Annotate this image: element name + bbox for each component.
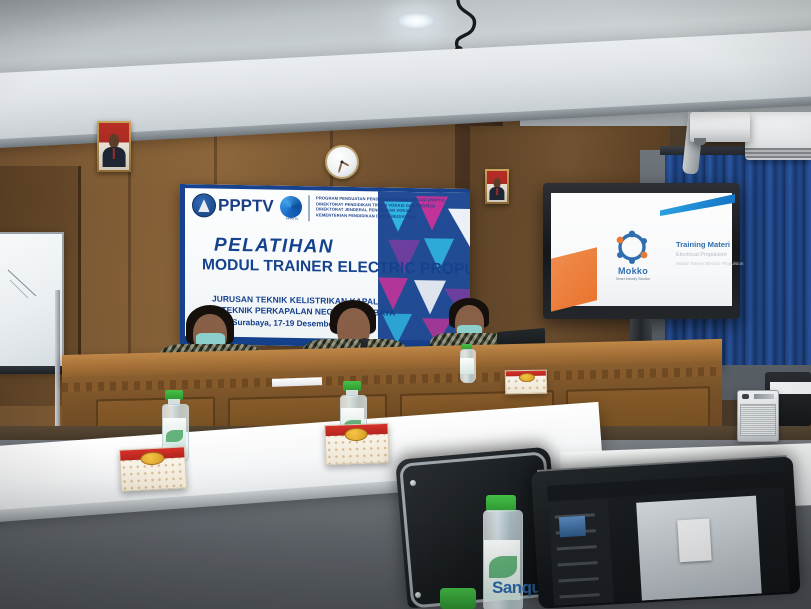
banner-ministry-lines: PROGRAM PENGUATAN PENDIDIKAN TINGGI VOKA…	[316, 195, 466, 220]
slide-heading: Training Materi	[676, 240, 730, 249]
banner-brand: PPPTV	[218, 196, 274, 216]
slide-logo-wordmark: Mokko	[606, 266, 660, 276]
whiteboard-marking-icon	[6, 268, 44, 302]
photo-scene: PPPTV PPPPTV PROGRAM PENGUATAN PENDIDIKA…	[0, 0, 811, 609]
snack-box[interactable]	[119, 446, 187, 491]
snack-box-seal-icon	[140, 451, 165, 465]
snack-box[interactable]	[505, 370, 547, 395]
sidebar-item[interactable]	[559, 577, 599, 582]
presidential-portrait	[97, 121, 131, 172]
banner-left-bar	[180, 184, 185, 344]
wave-logo-icon	[280, 196, 302, 218]
bottle-label-swoosh	[166, 430, 183, 442]
app-document-page[interactable]	[677, 518, 711, 562]
chair-bolt-icon	[410, 480, 416, 486]
banner-kicker: PELATIHAN	[214, 235, 334, 259]
slide-subheading-2: Modul Trainer Electric Propulsion	[676, 261, 743, 266]
ministry-emblem-icon	[192, 193, 216, 217]
slide-subheading-1: Electrical Propulsion	[676, 252, 727, 258]
speaker-knob-icon[interactable]	[742, 394, 749, 399]
bottle-label	[460, 358, 474, 374]
chair-bolt-icon	[415, 592, 421, 598]
snack-box[interactable]	[324, 423, 389, 465]
snack-box-seal-icon	[344, 428, 367, 442]
app-thumbnail[interactable]	[559, 516, 586, 538]
sidebar-item[interactable]	[557, 545, 597, 550]
banner-title: MODUL TRAINER ELECTRIC PROPULSION	[202, 256, 470, 280]
hanging-cable-icon	[448, 0, 482, 54]
bottle-cap-icon	[440, 588, 476, 609]
wall-clock	[325, 145, 359, 179]
banner-divider	[308, 195, 310, 221]
bottle-label-swoosh	[489, 556, 517, 578]
wave-logo-caption: PPPPTV	[276, 217, 308, 222]
sidebar-item[interactable]	[560, 593, 600, 598]
speaker-grille-icon	[740, 404, 776, 436]
vice-presidential-portrait	[485, 169, 509, 204]
speaker-label	[754, 394, 774, 399]
app-sidebar[interactable]	[548, 498, 614, 605]
snack-box-seal-icon	[519, 373, 535, 382]
ceiling-downlight-icon	[396, 12, 436, 30]
projector-lens-icon	[694, 138, 706, 145]
slide-logo-tagline: Smart Industry Solution	[600, 277, 666, 281]
mokko-logo-icon	[614, 229, 650, 265]
sidebar-item[interactable]	[558, 561, 598, 566]
laptop-screen[interactable]	[547, 472, 790, 606]
ac-vent-icon	[745, 148, 811, 158]
